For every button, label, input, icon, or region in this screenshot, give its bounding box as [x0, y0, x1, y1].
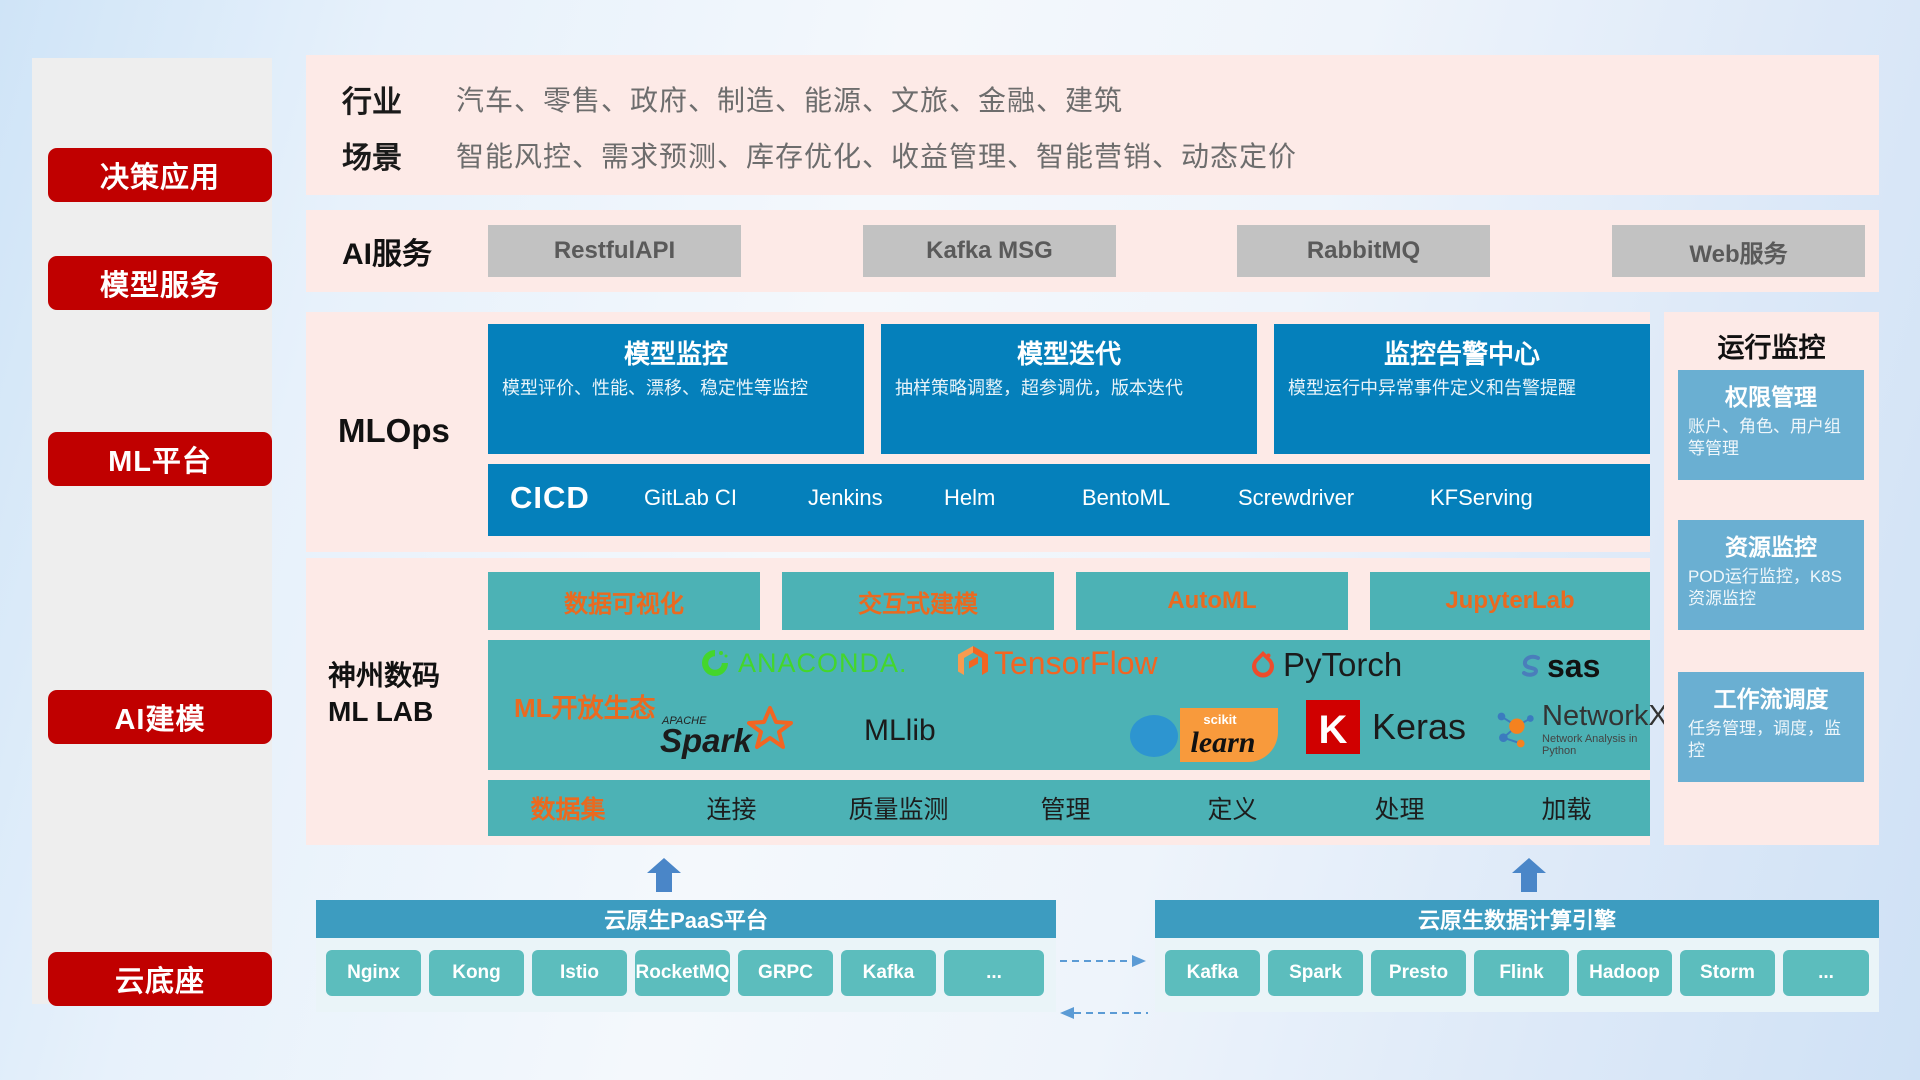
dataset-label: 数据集: [488, 790, 648, 826]
engine-chip-more[interactable]: ...: [1783, 950, 1869, 996]
paas-chip-rocketmq[interactable]: RocketMQ: [635, 950, 730, 996]
keras-icon: K: [1304, 698, 1362, 756]
rail-item-decision-app[interactable]: 决策应用: [48, 148, 272, 202]
spark-icon: APACHE Spark: [660, 702, 860, 760]
anaconda-logo: ANACONDA.: [698, 646, 908, 680]
mlops-card-model-iteration[interactable]: 模型迭代 抽样策略调整，超参调优，版本迭代: [881, 324, 1257, 454]
cicd-bar: CICD GitLab CI Jenkins Helm BentoML Scre…: [488, 464, 1650, 536]
ai-service-chip-web-service[interactable]: Web服务: [1612, 225, 1865, 277]
card-title: 资源监控: [1688, 528, 1854, 562]
rail-label: 决策应用: [100, 154, 220, 196]
sas-wordmark: sas: [1547, 648, 1600, 685]
paas-chip-istio[interactable]: Istio: [532, 950, 627, 996]
scikit-learn-logo: scikit learn: [1128, 702, 1298, 762]
chip-label: AutoML: [1167, 587, 1256, 615]
svg-text:Spark: Spark: [660, 722, 753, 759]
rail-item-ml-platform[interactable]: ML平台: [48, 432, 272, 486]
sas-icon: [1516, 652, 1546, 682]
card-title: 模型迭代: [895, 334, 1243, 371]
networkx-icon: [1488, 704, 1538, 756]
tensorflow-wordmark: TensorFlow: [994, 645, 1158, 682]
dataset-item-load[interactable]: 加载: [1483, 790, 1650, 826]
anaconda-wordmark: ANACONDA.: [738, 648, 908, 679]
card-desc: 抽样策略调整，超参调优，版本迭代: [895, 377, 1243, 401]
dataset-item-process[interactable]: 处理: [1316, 790, 1483, 826]
dataset-item-connect[interactable]: 连接: [648, 790, 815, 826]
card-title: 模型监控: [502, 334, 850, 371]
pytorch-logo: PyTorch: [1248, 646, 1402, 684]
ai-service-panel: AI服务 RestfulAPI Kafka MSG RabbitMQ Web服务: [306, 210, 1879, 292]
diagram-canvas: 决策应用 模型服务 ML平台 AI建模 云底座 行业 汽车、零售、政府、制造、能…: [0, 0, 1920, 1080]
rail-label: ML平台: [108, 438, 212, 480]
tensorflow-logo: TensorFlow: [956, 644, 1158, 682]
engine-chip-kafka[interactable]: Kafka: [1165, 950, 1260, 996]
dashed-arrow-left: [1060, 1004, 1150, 1022]
card-desc: 模型运行中异常事件定义和告警提醒: [1288, 377, 1636, 401]
ml-lab-title-line2: ML LAB: [328, 696, 433, 727]
cicd-label: CICD: [510, 480, 590, 516]
industry-row: 行业 汽车、零售、政府、制造、能源、文旅、金融、建筑: [306, 77, 1123, 121]
svg-text:scikit: scikit: [1203, 712, 1237, 727]
rail-item-ai-modeling[interactable]: AI建模: [48, 690, 272, 744]
industry-scenario-panel: 行业 汽车、零售、政府、制造、能源、文旅、金融、建筑 场景 智能风控、需求预测、…: [306, 55, 1879, 195]
engine-chip-hadoop[interactable]: Hadoop: [1577, 950, 1672, 996]
keras-wordmark: Keras: [1372, 706, 1466, 748]
scenario-row: 场景 智能风控、需求预测、库存优化、收益管理、智能营销、动态定价: [306, 133, 1297, 177]
rail-item-model-service[interactable]: 模型服务: [48, 256, 272, 310]
cicd-item-helm[interactable]: Helm: [944, 484, 1052, 512]
paas-header: 云原生PaaS平台: [316, 900, 1056, 938]
svg-text:learn: learn: [1190, 726, 1255, 759]
cicd-item-gitlab-ci[interactable]: GitLab CI: [644, 484, 752, 512]
monitoring-card-permission[interactable]: 权限管理 账户、角色、用户组等管理: [1678, 370, 1864, 480]
ecosystem-label: ML开放生态: [514, 688, 656, 725]
up-arrow-paas: [645, 858, 683, 892]
industry-value: 汽车、零售、政府、制造、能源、文旅、金融、建筑: [456, 79, 1123, 119]
dataset-item-manage[interactable]: 管理: [982, 790, 1149, 826]
engine-chip-storm[interactable]: Storm: [1680, 950, 1775, 996]
mlops-panel: MLOps 模型监控 模型评价、性能、漂移、稳定性等监控 模型迭代 抽样策略调整…: [306, 312, 1650, 552]
tensorflow-icon: [956, 644, 990, 682]
paas-chip-nginx[interactable]: Nginx: [326, 950, 421, 996]
networkx-tagline: Network Analysis in Python: [1542, 733, 1670, 757]
data-engine-block: 云原生数据计算引擎 Kafka Spark Presto Flink Hadoo…: [1155, 900, 1879, 1012]
chip-label: JupyterLab: [1445, 587, 1574, 615]
svg-text:K: K: [1319, 708, 1348, 752]
ai-service-chip-kafka-msg[interactable]: Kafka MSG: [863, 225, 1116, 277]
paas-chip-kong[interactable]: Kong: [429, 950, 524, 996]
monitoring-card-workflow[interactable]: 工作流调度 任务管理，调度，监控: [1678, 672, 1864, 782]
networkx-logo: NetworkX Network Analysis in Python: [1488, 702, 1670, 757]
chip-label: 数据可视化: [564, 584, 684, 619]
pytorch-icon: [1248, 648, 1278, 682]
dataset-item-quality[interactable]: 质量监测: [815, 790, 982, 826]
runtime-monitoring-panel: 运行监控 权限管理 账户、角色、用户组等管理 资源监控 POD运行监控，K8S资…: [1664, 312, 1879, 845]
monitoring-card-resource[interactable]: 资源监控 POD运行监控，K8S资源监控: [1678, 520, 1864, 630]
paas-chip-grpc[interactable]: GRPC: [738, 950, 833, 996]
dashed-arrow-right: [1060, 952, 1150, 970]
ai-modeling-panel: 神州数码 ML LAB 数据可视化 交互式建模 AutoML JupyterLa…: [306, 558, 1650, 845]
dataset-band: 数据集 连接 质量监测 管理 定义 处理 加载: [488, 780, 1650, 836]
rail-label: 模型服务: [100, 262, 220, 304]
keras-logo: K Keras: [1304, 698, 1466, 756]
spark-mllib-logo: APACHE Spark MLlib: [660, 702, 936, 760]
cicd-item-bentoml[interactable]: BentoML: [1082, 484, 1190, 512]
ai-service-chip-rabbitmq[interactable]: RabbitMQ: [1237, 225, 1490, 277]
chip-label: Web服务: [1689, 234, 1787, 269]
card-desc: 任务管理，调度，监控: [1688, 718, 1854, 762]
up-arrow-data-engine: [1510, 858, 1548, 892]
rail-label: AI建模: [114, 696, 205, 738]
sas-logo: sas: [1516, 648, 1600, 685]
cicd-item-jenkins[interactable]: Jenkins: [808, 484, 916, 512]
card-title: 工作流调度: [1688, 680, 1854, 714]
ml-ecosystem-band: ML开放生态 ANACONDA. TensorFlow: [488, 640, 1650, 770]
scenario-value: 智能风控、需求预测、库存优化、收益管理、智能营销、动态定价: [456, 135, 1297, 175]
card-title: 监控告警中心: [1288, 334, 1636, 371]
data-engine-header: 云原生数据计算引擎: [1155, 900, 1879, 938]
paas-platform-block: 云原生PaaS平台 Nginx Kong Istio RocketMQ GRPC…: [316, 900, 1056, 1012]
mlops-card-model-monitoring[interactable]: 模型监控 模型评价、性能、漂移、稳定性等监控: [488, 324, 864, 454]
paas-chip-kafka[interactable]: Kafka: [841, 950, 936, 996]
dataset-item-define[interactable]: 定义: [1149, 790, 1316, 826]
chip-label: Kafka MSG: [926, 237, 1053, 265]
engine-chip-flink[interactable]: Flink: [1474, 950, 1569, 996]
mlops-card-alert-center[interactable]: 监控告警中心 模型运行中异常事件定义和告警提醒: [1274, 324, 1650, 454]
industry-key: 行业: [306, 77, 456, 121]
pytorch-wordmark: PyTorch: [1283, 646, 1402, 684]
networkx-wordmark: NetworkX: [1542, 702, 1670, 731]
card-desc: 账户、角色、用户组等管理: [1688, 416, 1854, 460]
ai-service-title: AI服务: [342, 229, 432, 273]
chip-label: RestfulAPI: [554, 237, 675, 265]
tool-chip-automl[interactable]: AutoML: [1076, 572, 1348, 630]
card-desc: 模型评价、性能、漂移、稳定性等监控: [502, 377, 850, 401]
cicd-item-kfserving[interactable]: KFServing: [1430, 484, 1538, 512]
mlops-title: MLOps: [338, 412, 450, 450]
paas-chip-more[interactable]: ...: [944, 950, 1044, 996]
tool-chip-jupyterlab[interactable]: JupyterLab: [1370, 572, 1650, 630]
card-desc: POD运行监控，K8S资源监控: [1688, 566, 1854, 610]
rail-label: 云底座: [115, 958, 205, 1000]
ml-lab-title: 神州数码 ML LAB: [328, 658, 440, 731]
scikit-learn-icon: scikit learn: [1128, 702, 1298, 762]
cicd-item-screwdriver[interactable]: Screwdriver: [1238, 484, 1346, 512]
tool-chip-interactive-modeling[interactable]: 交互式建模: [782, 572, 1054, 630]
anaconda-icon: [698, 646, 732, 680]
rail-item-cloud-base[interactable]: 云底座: [48, 952, 272, 1006]
chip-label: RabbitMQ: [1307, 237, 1420, 265]
chip-label: 交互式建模: [858, 584, 978, 619]
card-title: 权限管理: [1688, 378, 1854, 412]
engine-chip-spark[interactable]: Spark: [1268, 950, 1363, 996]
engine-chip-presto[interactable]: Presto: [1371, 950, 1466, 996]
ai-service-chip-restfulapi[interactable]: RestfulAPI: [488, 225, 741, 277]
ml-lab-title-line1: 神州数码: [328, 660, 440, 691]
mllib-wordmark: MLlib: [864, 714, 936, 748]
tool-chip-data-visualization[interactable]: 数据可视化: [488, 572, 760, 630]
monitoring-title: 运行监控: [1664, 326, 1879, 365]
scenario-key: 场景: [306, 133, 456, 177]
